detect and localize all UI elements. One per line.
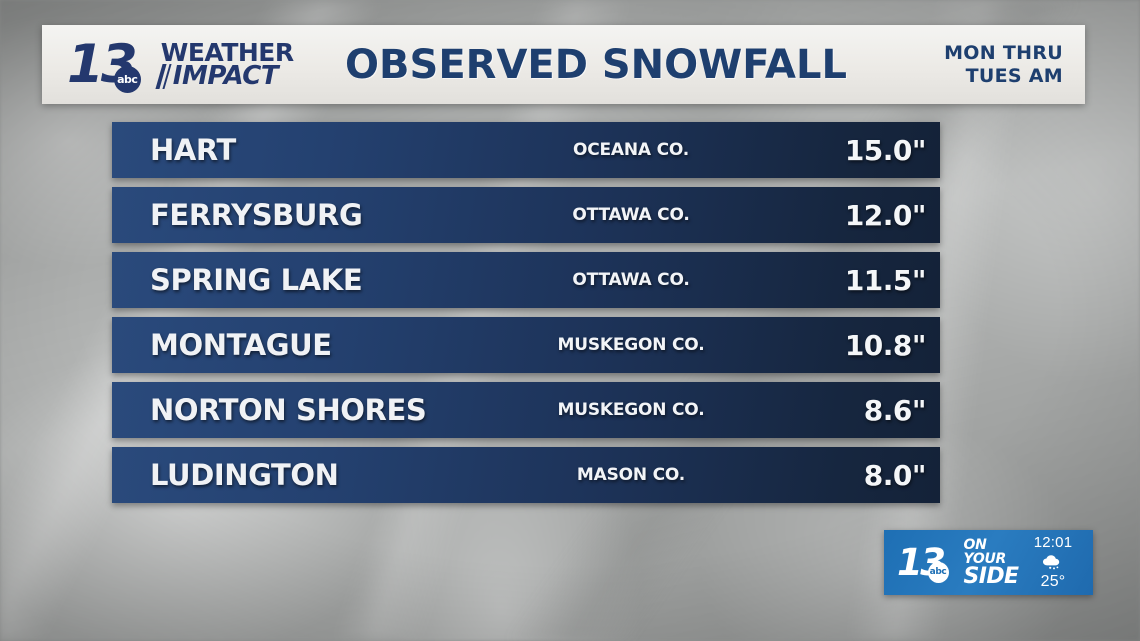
header-bar: 13 abc WEATHER IMPACT OBSERVED SNOWFALL … [42,25,1085,104]
snow-cloud-icon [1040,553,1066,571]
table-row: SPRING LAKE OTTAWA CO. 11.5" [112,252,940,308]
row-county: OTTAWA CO. [507,205,755,225]
table-row: MONTAGUE MUSKEGON CO. 10.8" [112,317,940,373]
row-county: MUSKEGON CO. [507,400,755,420]
channel-13-logo: 13 abc [67,38,135,91]
row-county: MUSKEGON CO. [507,335,755,355]
bug-abc-circle-icon: abc [928,562,949,583]
bug-tagline: ON YOUR SIDE [964,538,1022,588]
row-amount: 15.0" [755,134,940,167]
table-row: NORTON SHORES MUSKEGON CO. 8.6" [112,382,940,438]
time-range-line1: MON THRU [910,42,1063,64]
row-amount: 12.0" [755,199,940,232]
row-amount: 11.5" [755,264,940,297]
clock-time: 12:01 [1034,534,1073,551]
abc-circle-icon: abc [114,66,141,93]
row-city: SPRING LAKE [112,263,507,297]
time-range-line2: TUES AM [910,65,1063,87]
on-your-side-logo: 13 abc ON YOUR SIDE [884,538,1021,588]
bug-tagline-line2: SIDE [964,566,1022,588]
bug-tagline-line1: ON YOUR [964,538,1022,566]
page-title: OBSERVED SNOWFALL [312,42,910,88]
row-county: MASON CO. [507,465,755,485]
snowfall-list: HART OCEANA CO. 15.0" FERRYSBURG OTTAWA … [112,122,940,512]
bug-channel-13-logo: 13 abc [897,544,944,581]
station-bug: 13 abc ON YOUR SIDE 12:01 25° [884,530,1093,595]
table-row: FERRYSBURG OTTAWA CO. 12.0" [112,187,940,243]
row-city: LUDINGTON [112,458,507,492]
table-row: HART OCEANA CO. 15.0" [112,122,940,178]
row-amount: 10.8" [755,329,940,362]
row-city: NORTON SHORES [112,393,507,427]
row-city: FERRYSBURG [112,198,507,232]
bug-conditions: 12:01 25° [1021,534,1093,591]
row-county: OTTAWA CO. [507,270,755,290]
temperature-value: 25° [1041,573,1066,591]
row-county: OCEANA CO. [507,140,755,160]
row-amount: 8.0" [755,459,940,492]
brand-wordmark: WEATHER IMPACT [161,41,294,88]
table-row: LUDINGTON MASON CO. 8.0" [112,447,940,503]
row-city: HART [112,133,507,167]
time-range-label: MON THRU TUES AM [910,42,1085,86]
weather-impact-logo: 13 abc WEATHER IMPACT [42,38,312,91]
brand-impact-text: IMPACT [161,64,294,88]
row-amount: 8.6" [755,394,940,427]
row-city: MONTAGUE [112,328,507,362]
